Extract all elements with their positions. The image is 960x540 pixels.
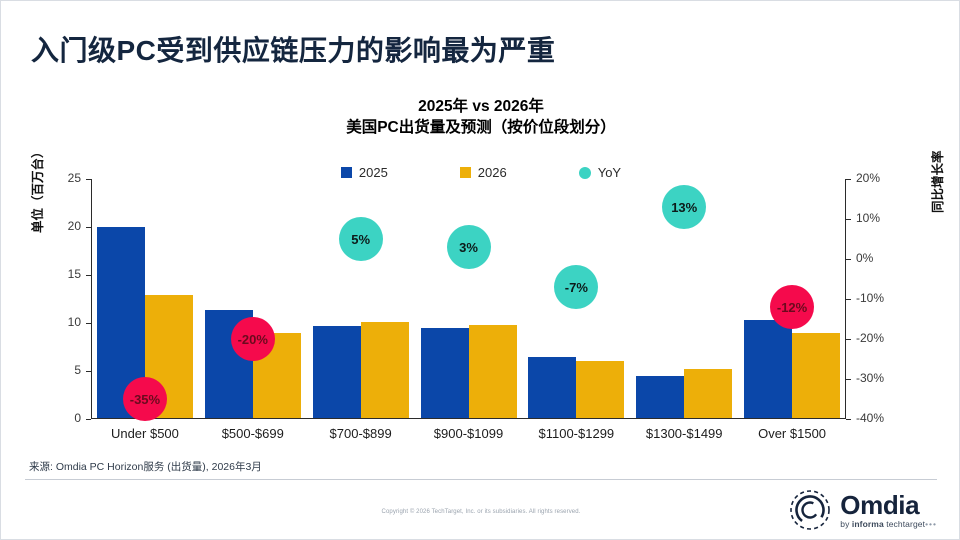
y-tick-right [846, 379, 851, 380]
y-axis-tick-label-right: -40% [856, 411, 898, 425]
omdia-tagline: by informa techtarget••• [840, 520, 937, 529]
y-axis-tick-label-right: 20% [856, 171, 898, 185]
tagline-by: by [840, 519, 852, 529]
legend-swatch-yoy-icon [579, 167, 591, 179]
bar-2026[interactable] [792, 333, 840, 418]
y-tick-left [86, 419, 91, 420]
yoy-bubble[interactable]: -35% [123, 377, 167, 421]
y-tick-right [846, 299, 851, 300]
omdia-mark-icon [788, 488, 832, 532]
x-axis-labels: Under $500$500-$699$700-$899$900-$1099$1… [91, 426, 846, 448]
yoy-bubble[interactable]: 5% [339, 217, 383, 261]
yoy-bubble[interactable]: 13% [662, 185, 706, 229]
y-axis-left-line [91, 179, 92, 419]
tagline-informa: informa [852, 519, 884, 529]
y-axis-tick-label-right: -20% [856, 331, 898, 345]
y-tick-right [846, 179, 851, 180]
y-axis-tick-label-left: 20 [39, 219, 81, 233]
y-axis-tick-label-right: 0% [856, 251, 898, 265]
chart-title-line1: 2025年 vs 2026年 [418, 98, 544, 115]
y-tick-left [86, 275, 91, 276]
omdia-logo: Omdia by informa techtarget••• [788, 488, 937, 532]
y-tick-right [846, 419, 851, 420]
y-tick-left [86, 323, 91, 324]
y-axis-tick-label-right: -30% [856, 371, 898, 385]
bar-2026[interactable] [469, 325, 517, 418]
y-axis-tick-label-left: 25 [39, 171, 81, 185]
chart-title-line2: 美国PC出货量及预测（按价位段划分） [1, 117, 960, 138]
x-axis-tick-label: $1100-$1299 [522, 426, 630, 441]
legend-label-yoy: YoY [598, 165, 621, 180]
y-axis-tick-label-left: 15 [39, 267, 81, 281]
y-axis-tick-label-right: -10% [856, 291, 898, 305]
legend-item-2026[interactable]: 2026 [460, 165, 507, 180]
y-tick-left [86, 179, 91, 180]
y-tick-left [86, 371, 91, 372]
x-axis-tick-label: $700-$899 [307, 426, 415, 441]
chart-title: 2025年 vs 2026年 美国PC出货量及预测（按价位段划分） [1, 96, 960, 138]
yoy-bubble[interactable]: 3% [447, 225, 491, 269]
y-axis-tick-label-left: 5 [39, 363, 81, 377]
plot-area: 051015202520%10%0%-10%-20%-30%-40%-35%-2… [91, 179, 846, 419]
y-axis-tick-label-left: 10 [39, 315, 81, 329]
y-tick-right [846, 219, 851, 220]
bar-2025[interactable] [528, 357, 576, 418]
y-axis-tick-label-right: 10% [856, 211, 898, 225]
bar-2025[interactable] [744, 320, 792, 418]
bar-2025[interactable] [636, 376, 684, 418]
y-axis-title-right: 同比增长率 [927, 150, 946, 213]
page-title: 入门级PC受到供应链压力的影响最为严重 [31, 29, 555, 69]
legend-swatch-2026-icon [460, 167, 471, 178]
x-axis-tick-label: Over $1500 [738, 426, 846, 441]
slide-canvas: 入门级PC受到供应链压力的影响最为严重 2025年 vs 2026年 美国PC出… [0, 0, 960, 540]
yoy-bubble[interactable]: -7% [554, 265, 598, 309]
x-axis-tick-label: $1300-$1499 [630, 426, 738, 441]
yoy-bubble[interactable]: -12% [770, 285, 814, 329]
legend-label-2026: 2026 [478, 165, 507, 180]
legend-swatch-2025-icon [341, 167, 352, 178]
footer-divider [25, 479, 937, 480]
bar-2026[interactable] [684, 369, 732, 418]
yoy-bubble[interactable]: -20% [231, 317, 275, 361]
y-tick-right [846, 259, 851, 260]
tagline-rest: techtarget [884, 519, 925, 529]
chart-legend: 2025 2026 YoY [1, 165, 960, 180]
omdia-logo-text: Omdia by informa techtarget••• [840, 492, 937, 529]
bar-2026[interactable] [576, 361, 624, 418]
bar-2025[interactable] [421, 328, 469, 418]
y-tick-right [846, 339, 851, 340]
tagline-dots: ••• [925, 519, 937, 529]
legend-label-2025: 2025 [359, 165, 388, 180]
legend-item-2025[interactable]: 2025 [341, 165, 388, 180]
bar-2026[interactable] [361, 322, 409, 418]
y-axis-tick-label-left: 0 [39, 411, 81, 425]
x-axis-tick-label: $500-$699 [199, 426, 307, 441]
y-tick-left [86, 227, 91, 228]
legend-item-yoy[interactable]: YoY [579, 165, 621, 180]
x-axis-tick-label: $900-$1099 [415, 426, 523, 441]
x-axis-tick-label: Under $500 [91, 426, 199, 441]
bar-2025[interactable] [313, 326, 361, 418]
source-note: 来源: Omdia PC Horizon服务 (出货量), 2026年3月 [29, 459, 262, 474]
omdia-wordmark: Omdia [840, 492, 937, 518]
